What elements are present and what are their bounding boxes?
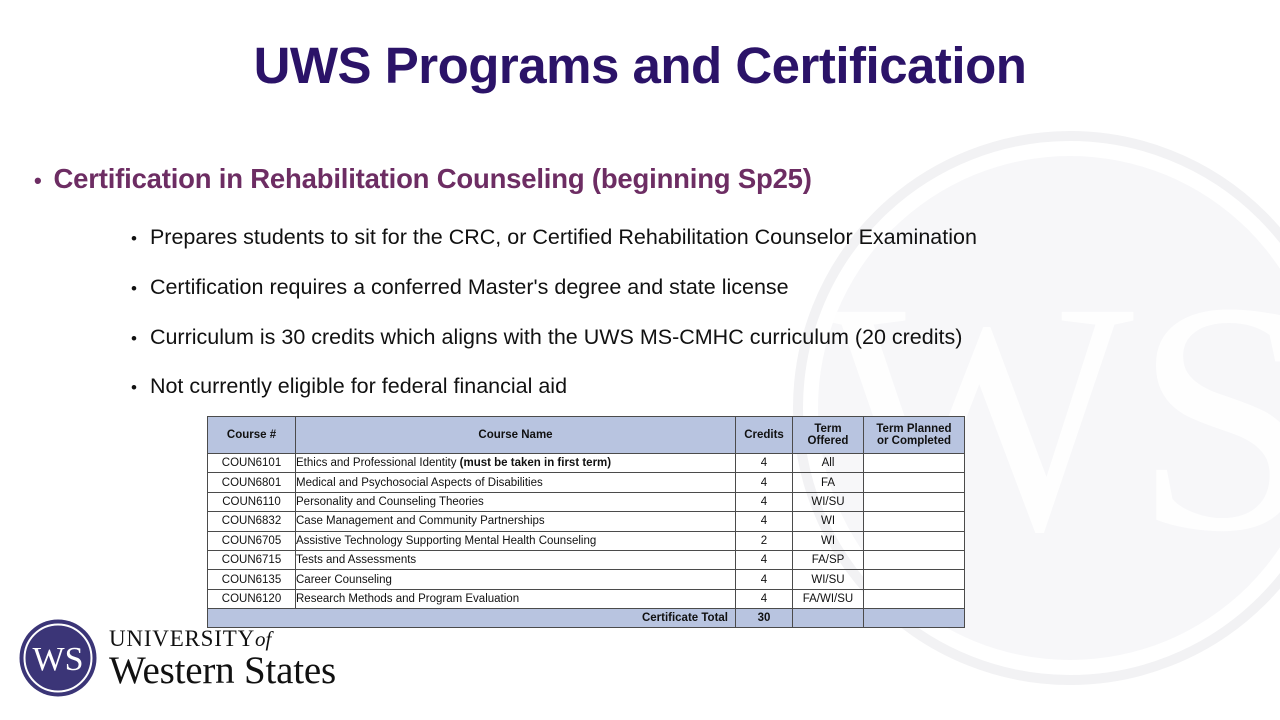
course-name-plain: Career Counseling bbox=[296, 574, 392, 586]
cell-credits: 4 bbox=[736, 473, 793, 492]
table-header-row: Course # Course Name Credits Term Offere… bbox=[208, 417, 965, 454]
cell-credits: 4 bbox=[736, 550, 793, 569]
sub-bullet-label: Curriculum is 30 credits which aligns wi… bbox=[150, 325, 962, 350]
cell-term-offered: WI/SU bbox=[793, 492, 864, 511]
cell-term-planned[interactable] bbox=[864, 473, 965, 492]
bullet-marker-icon: • bbox=[131, 280, 137, 297]
sub-bullet-label: Not currently eligible for federal finan… bbox=[150, 374, 567, 399]
course-name-plain: Tests and Assessments bbox=[296, 554, 416, 566]
column-header-course-number: Course # bbox=[208, 417, 296, 454]
cell-term-offered: WI bbox=[793, 531, 864, 550]
cell-course-name: Tests and Assessments bbox=[296, 550, 736, 569]
term-planned-line-1: Term Planned bbox=[876, 423, 951, 435]
sub-bullet-label: Certification requires a conferred Maste… bbox=[150, 275, 789, 300]
column-header-course-name: Course Name bbox=[296, 417, 736, 454]
column-header-term-offered: Term Offered bbox=[793, 417, 864, 454]
cell-credits: 4 bbox=[736, 492, 793, 511]
total-term-planned bbox=[864, 609, 965, 628]
cell-term-offered: WI/SU bbox=[793, 570, 864, 589]
wordmark-of: of bbox=[255, 627, 271, 651]
cell-term-planned[interactable] bbox=[864, 454, 965, 473]
bullet-marker-icon: • bbox=[34, 170, 42, 192]
course-table-body: COUN6101 Ethics and Professional Identit… bbox=[208, 454, 965, 628]
bullet-marker-icon: • bbox=[131, 230, 137, 247]
cell-term-offered: FA/WI/SU bbox=[793, 589, 864, 608]
cell-course-number: COUN6715 bbox=[208, 550, 296, 569]
sub-bullet-3: • Curriculum is 30 credits which aligns … bbox=[131, 325, 962, 350]
cell-course-name: Medical and Psychosocial Aspects of Disa… bbox=[296, 473, 736, 492]
uws-wordmark: UNIVERSITYof Western States bbox=[109, 627, 336, 690]
cell-course-number: COUN6101 bbox=[208, 454, 296, 473]
table-row: COUN6801 Medical and Psychosocial Aspect… bbox=[208, 473, 965, 492]
table-row: COUN6832 Case Management and Community P… bbox=[208, 512, 965, 531]
cell-credits: 4 bbox=[736, 570, 793, 589]
cell-course-name: Personality and Counseling Theories bbox=[296, 492, 736, 511]
cell-credits: 4 bbox=[736, 589, 793, 608]
cell-course-number: COUN6705 bbox=[208, 531, 296, 550]
sub-bullet-2: • Certification requires a conferred Mas… bbox=[131, 275, 789, 300]
sub-bullet-1: • Prepares students to sit for the CRC, … bbox=[131, 225, 977, 250]
table-row: COUN6101 Ethics and Professional Identit… bbox=[208, 454, 965, 473]
cell-term-planned[interactable] bbox=[864, 512, 965, 531]
cell-course-name: Research Methods and Program Evaluation bbox=[296, 589, 736, 608]
primary-bullet: • Certification in Rehabilitation Counse… bbox=[34, 163, 812, 195]
cell-term-offered: All bbox=[793, 454, 864, 473]
cell-course-name: Assistive Technology Supporting Mental H… bbox=[296, 531, 736, 550]
table-row: COUN6715 Tests and Assessments 4 FA/SP bbox=[208, 550, 965, 569]
uws-logo: WS UNIVERSITYof Western States bbox=[18, 618, 336, 698]
slide-canvas: WS UWS Programs and Certification • Cert… bbox=[0, 0, 1280, 720]
cell-credits: 4 bbox=[736, 454, 793, 473]
cell-term-offered: FA/SP bbox=[793, 550, 864, 569]
course-name-plain: Medical and Psychosocial Aspects of Disa… bbox=[296, 477, 543, 489]
cell-course-number: COUN6135 bbox=[208, 570, 296, 589]
cell-course-number: COUN6110 bbox=[208, 492, 296, 511]
table-row: COUN6705 Assistive Technology Supporting… bbox=[208, 531, 965, 550]
course-name-plain: Assistive Technology Supporting Mental H… bbox=[296, 535, 596, 547]
cell-course-name: Career Counseling bbox=[296, 570, 736, 589]
cell-course-number: COUN6832 bbox=[208, 512, 296, 531]
bullet-marker-icon: • bbox=[131, 330, 137, 347]
table-row: COUN6120 Research Methods and Program Ev… bbox=[208, 589, 965, 608]
cell-term-planned[interactable] bbox=[864, 589, 965, 608]
sub-bullet-label: Prepares students to sit for the CRC, or… bbox=[150, 225, 977, 250]
primary-bullet-label: Certification in Rehabilitation Counseli… bbox=[54, 163, 812, 195]
cell-credits: 2 bbox=[736, 531, 793, 550]
term-offered-line-1: Term bbox=[814, 423, 841, 435]
column-header-credits: Credits bbox=[736, 417, 793, 454]
term-offered-line-2: Offered bbox=[808, 435, 849, 447]
cell-course-number: COUN6801 bbox=[208, 473, 296, 492]
svg-text:WS: WS bbox=[33, 641, 84, 678]
cell-term-offered: WI bbox=[793, 512, 864, 531]
cell-term-offered: FA bbox=[793, 473, 864, 492]
course-name-plain: Case Management and Community Partnershi… bbox=[296, 515, 545, 527]
wordmark-line-2: Western States bbox=[109, 651, 336, 690]
term-planned-line-2: or Completed bbox=[877, 435, 951, 447]
table-row: COUN6135 Career Counseling 4 WI/SU bbox=[208, 570, 965, 589]
cell-term-planned[interactable] bbox=[864, 550, 965, 569]
total-credits: 30 bbox=[736, 609, 793, 628]
course-name-plain: Ethics and Professional Identity bbox=[296, 457, 460, 469]
cell-course-number: COUN6120 bbox=[208, 589, 296, 608]
course-name-plain: Research Methods and Program Evaluation bbox=[296, 593, 519, 605]
bullet-marker-icon: • bbox=[131, 379, 137, 396]
wordmark-line-1: UNIVERSITYof bbox=[109, 627, 336, 650]
course-name-plain: Personality and Counseling Theories bbox=[296, 496, 484, 508]
wordmark-university: UNIVERSITY bbox=[109, 626, 255, 651]
cell-course-name: Case Management and Community Partnershi… bbox=[296, 512, 736, 531]
course-table: Course # Course Name Credits Term Offere… bbox=[207, 416, 965, 628]
sub-bullet-4: • Not currently eligible for federal fin… bbox=[131, 374, 567, 399]
table-row: COUN6110 Personality and Counseling Theo… bbox=[208, 492, 965, 511]
page-title: UWS Programs and Certification bbox=[0, 36, 1280, 95]
column-header-term-planned: Term Planned or Completed bbox=[864, 417, 965, 454]
total-term-offered bbox=[793, 609, 864, 628]
course-table-header: Course # Course Name Credits Term Offere… bbox=[208, 417, 965, 454]
course-name-note: (must be taken in first term) bbox=[460, 457, 611, 469]
cell-term-planned[interactable] bbox=[864, 492, 965, 511]
cell-term-planned[interactable] bbox=[864, 531, 965, 550]
uws-seal-icon: WS bbox=[18, 618, 98, 698]
cell-credits: 4 bbox=[736, 512, 793, 531]
course-table-container: Course # Course Name Credits Term Offere… bbox=[207, 416, 965, 628]
cell-term-planned[interactable] bbox=[864, 570, 965, 589]
cell-course-name: Ethics and Professional Identity (must b… bbox=[296, 454, 736, 473]
